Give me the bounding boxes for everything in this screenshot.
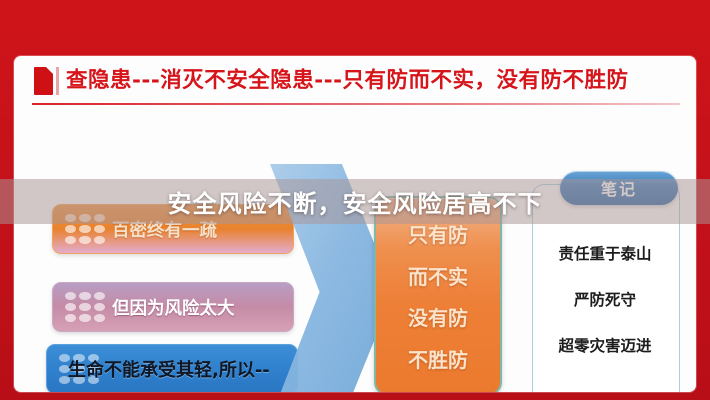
page-title: 查隐患---消灭不安全隐患---只有防而不实，没有防不胜防 (66, 64, 629, 98)
center-panel: 只有防 而不实 没有防 不胜防 (374, 196, 502, 392)
note-item: 超零灾害迈进 (558, 334, 651, 356)
title-divider (56, 67, 59, 95)
caption-text: 安全风险不断，安全风险居高不下 (0, 179, 710, 224)
center-panel-line: 而不实 (408, 261, 468, 290)
dot-grid-icon (62, 290, 108, 324)
list-item-label: 但因为风险太大 (112, 295, 235, 320)
center-panel-line: 不胜防 (408, 344, 468, 373)
note-panel-list: 责任重于泰山 严防死守 超零灾害迈进 (532, 216, 678, 356)
center-panel-line: 没有防 (408, 302, 468, 331)
list-item[interactable]: 但因为风险太大 (52, 282, 294, 332)
note-item: 责任重于泰山 (558, 242, 651, 264)
list-item[interactable]: 生命不能承受其轻,所以-- (46, 344, 298, 392)
slide-stage: 查隐患---消灭不安全隐患---只有防而不实，没有防不胜防 百密终有一疏 但因为… (0, 0, 710, 400)
list-item-label: 生命不能承受其轻,所以-- (68, 356, 270, 382)
red-flag-icon (34, 67, 53, 95)
content-card: 查隐患---消灭不安全隐患---只有防而不实，没有防不胜防 百密终有一疏 但因为… (14, 56, 696, 392)
title-bar: 查隐患---消灭不安全隐患---只有防而不实，没有防不胜防 (14, 56, 696, 106)
note-item: 严防死守 (574, 288, 636, 310)
title-rule (32, 103, 680, 105)
